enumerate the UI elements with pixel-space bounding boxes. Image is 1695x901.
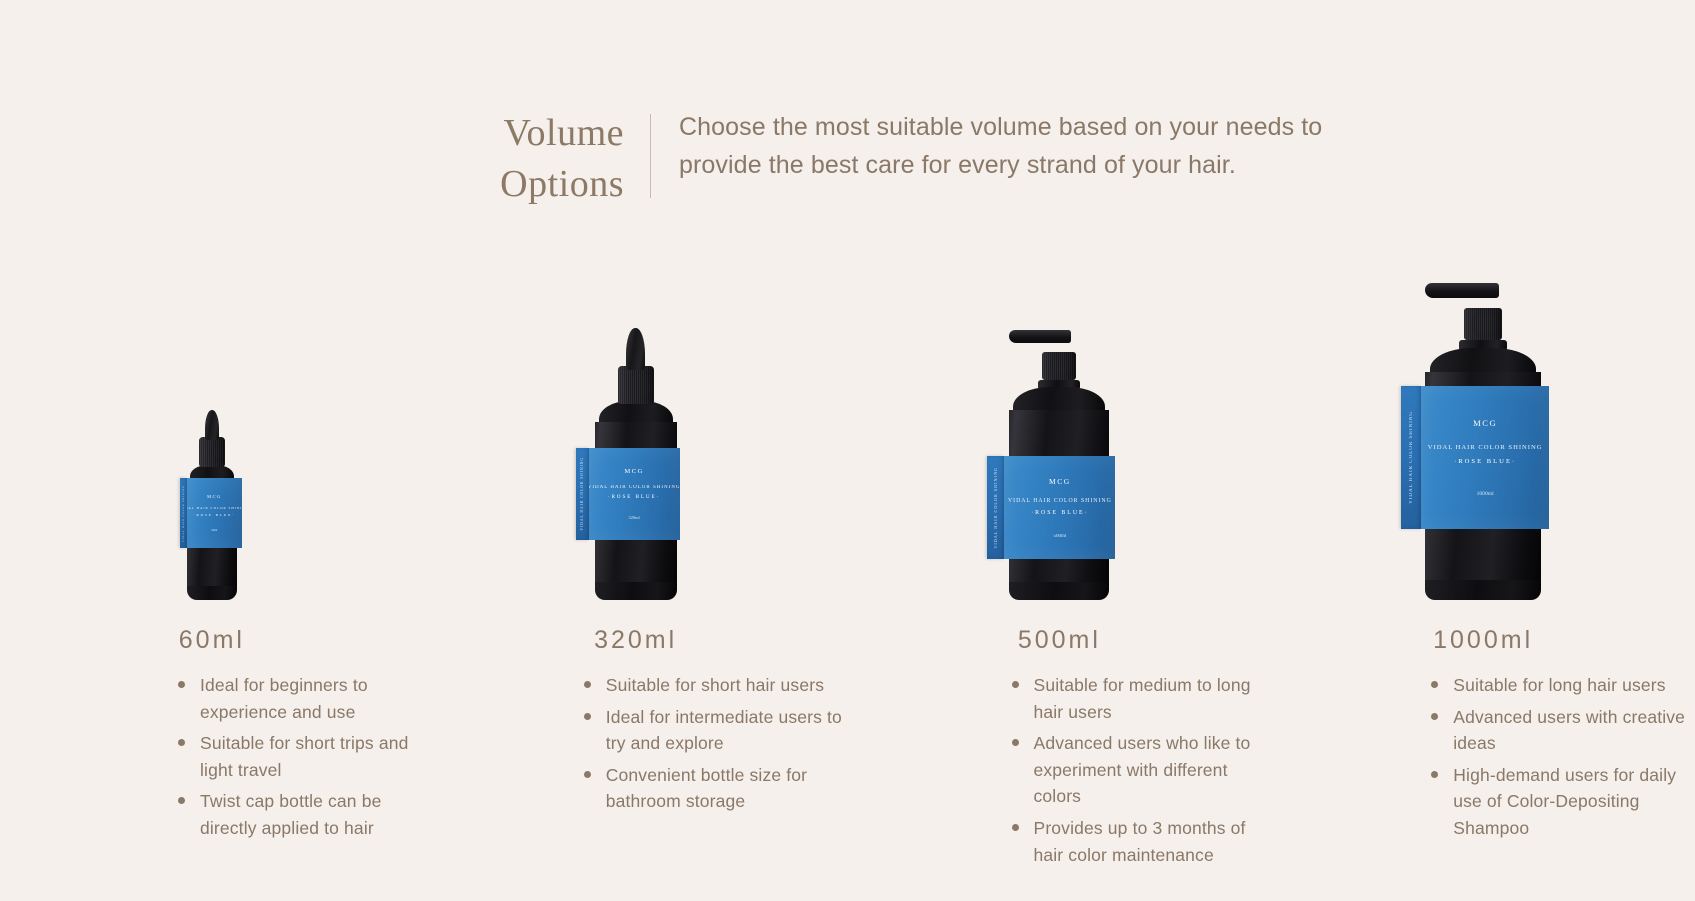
label-flap: VIDAL HAIR COLOR SHINING [987, 456, 1004, 559]
twist-cap-tip-icon [626, 328, 645, 370]
header-description: Choose the most suitable volume based on… [651, 108, 1339, 184]
pump-head-icon [1419, 283, 1547, 313]
product-column-60ml: VIDAL HAIR COLOR SHINING MCG VIDAL HAIR … [0, 240, 424, 873]
label-flap: VIDAL HAIR COLOR SHINING [576, 448, 589, 540]
label-variant: ·ROSE BLUE· [1454, 458, 1516, 465]
feature-text: Suitable for short hair users [606, 672, 824, 699]
bullet-dot-icon [1012, 681, 1019, 688]
bottle-base [1009, 582, 1109, 600]
bottle-image-1000ml: VIDAL HAIR COLOR SHINING MCG VIDAL HAIR … [1271, 240, 1695, 600]
label-volume: 320ml [629, 515, 640, 520]
label-brand: MCG [1049, 477, 1071, 486]
feature-text: Ideal for intermediate users to try and … [606, 704, 848, 757]
label-flap: VIDAL HAIR COLOR SHINING [1401, 386, 1421, 529]
label-flap: VIDAL HAIR COLOR SHINING [180, 478, 187, 548]
bullet-dot-icon [1431, 681, 1438, 688]
label-variant: ·ROSE BLUE· [608, 495, 660, 500]
twist-cap-tip-icon [205, 410, 219, 440]
label-flap-text: VIDAL HAIR COLOR SHINING [580, 457, 584, 530]
feature-text: Suitable for short trips and light trave… [200, 730, 424, 783]
bullet-dot-icon [178, 797, 185, 804]
feature-text: Twist cap bottle can be directly applied… [200, 788, 424, 841]
page-header: Volume Options Choose the most suitable … [448, 108, 1339, 211]
feature-text: Advanced users with creative ideas [1453, 704, 1695, 757]
feature-item: Suitable for short trips and light trave… [178, 730, 424, 783]
label-product-line: VIDAL HAIR COLOR SHINING [589, 485, 680, 490]
pump-neck [1042, 352, 1076, 380]
feature-item: Advanced users who like to experiment wi… [1012, 730, 1272, 810]
bullet-dot-icon [584, 771, 591, 778]
volume-title-1000ml: 1000ml [1433, 626, 1533, 655]
bullet-dot-icon [584, 713, 591, 720]
label-face: MCG VIDAL HAIR COLOR SHINING ·ROSE BLUE·… [1421, 386, 1549, 529]
label-flap-text: VIDAL HAIR COLOR SHINING [1409, 411, 1414, 504]
label-variant: ·ROSE BLUE· [1031, 510, 1088, 516]
feature-item: Suitable for long hair users [1431, 672, 1695, 699]
feature-item: Suitable for short hair users [584, 672, 848, 699]
product-label-60ml: VIDAL HAIR COLOR SHINING MCG VIDAL HAIR … [180, 478, 242, 548]
feature-item: Ideal for beginners to experience and us… [178, 672, 424, 725]
bullet-dot-icon [1012, 739, 1019, 746]
feature-list-60ml: Ideal for beginners to experience and us… [0, 672, 424, 847]
twist-cap-collar-icon [199, 437, 225, 467]
feature-text: Suitable for medium to long hair users [1034, 672, 1272, 725]
product-label-500ml: VIDAL HAIR COLOR SHINING MCG VIDAL HAIR … [987, 456, 1115, 559]
label-brand: MCG [624, 468, 644, 475]
label-face: MCG VIDAL HAIR COLOR SHINING ·ROSE BLUE·… [589, 448, 680, 540]
feature-text: Suitable for long hair users [1453, 672, 1665, 699]
volume-title-320ml: 320ml [594, 626, 677, 655]
label-face: MCG VIDAL HAIR COLOR SHINING ·ROSE BLUE·… [187, 478, 242, 548]
page-title: Volume Options [448, 108, 650, 211]
pump-spout [1009, 330, 1071, 343]
feature-item: Provides up to 3 months of hair color ma… [1012, 815, 1272, 868]
feature-text: Provides up to 3 months of hair color ma… [1034, 815, 1272, 868]
bottle-image-500ml: VIDAL HAIR COLOR SHINING MCG VIDAL HAIR … [848, 240, 1272, 600]
bottle-base [595, 582, 677, 600]
bullet-dot-icon [584, 681, 591, 688]
feature-item: Convenient bottle size for bathroom stor… [584, 762, 848, 815]
pump-spout [1425, 283, 1499, 298]
feature-text: Ideal for beginners to experience and us… [200, 672, 424, 725]
label-product-line: VIDAL HAIR COLOR SHINING [1008, 498, 1112, 504]
pump-head-icon [1003, 330, 1115, 356]
feature-item: Ideal for intermediate users to try and … [584, 704, 848, 757]
feature-text: Advanced users who like to experiment wi… [1034, 730, 1272, 810]
product-column-500ml: VIDAL HAIR COLOR SHINING MCG VIDAL HAIR … [848, 240, 1272, 873]
label-volume: 500ml [1053, 534, 1066, 539]
feature-text: High-demand users for daily use of Color… [1453, 762, 1695, 842]
bullet-dot-icon [1431, 771, 1438, 778]
product-comparison-grid: VIDAL HAIR COLOR SHINING MCG VIDAL HAIR … [0, 240, 1695, 873]
feature-item: Twist cap bottle can be directly applied… [178, 788, 424, 841]
label-flap-text: VIDAL HAIR COLOR SHINING [182, 485, 185, 542]
bottle-base [1425, 580, 1541, 600]
label-variant: ·ROSE BLUE· [193, 513, 235, 517]
label-volume: 1000ml [1477, 491, 1494, 497]
twist-cap-collar-icon [618, 366, 654, 404]
feature-text: Convenient bottle size for bathroom stor… [606, 762, 848, 815]
page-title-line-2: Options [448, 159, 624, 210]
product-label-1000ml: VIDAL HAIR COLOR SHINING MCG VIDAL HAIR … [1401, 386, 1549, 529]
label-product-line: VIDAL HAIR COLOR SHINING [187, 506, 242, 510]
bottle-base [187, 586, 237, 600]
bottle-image-60ml: VIDAL HAIR COLOR SHINING MCG VIDAL HAIR … [0, 240, 424, 600]
product-label-320ml: VIDAL HAIR COLOR SHINING MCG VIDAL HAIR … [576, 448, 680, 540]
volume-title-60ml: 60ml [179, 626, 245, 655]
label-volume: 60ml [211, 528, 217, 532]
label-flap-text: VIDAL HAIR COLOR SHINING [993, 467, 998, 549]
volume-title-500ml: 500ml [1018, 626, 1101, 655]
feature-list-1000ml: Suitable for long hair users Advanced us… [1271, 672, 1695, 847]
page-title-line-1: Volume [448, 108, 624, 159]
feature-list-500ml: Suitable for medium to long hair users A… [848, 672, 1272, 873]
feature-item: Advanced users with creative ideas [1431, 704, 1695, 757]
bullet-dot-icon [178, 681, 185, 688]
feature-list-320ml: Suitable for short hair users Ideal for … [424, 672, 848, 820]
product-column-320ml: VIDAL HAIR COLOR SHINING MCG VIDAL HAIR … [424, 240, 848, 873]
bullet-dot-icon [1431, 713, 1438, 720]
bullet-dot-icon [178, 739, 185, 746]
label-product-line: VIDAL HAIR COLOR SHINING [1428, 444, 1543, 451]
feature-item: Suitable for medium to long hair users [1012, 672, 1272, 725]
product-column-1000ml: VIDAL HAIR COLOR SHINING MCG VIDAL HAIR … [1271, 240, 1695, 873]
bullet-dot-icon [1012, 824, 1019, 831]
label-brand: MCG [1473, 418, 1497, 428]
bottle-image-320ml: VIDAL HAIR COLOR SHINING MCG VIDAL HAIR … [424, 240, 848, 600]
feature-item: High-demand users for daily use of Color… [1431, 762, 1695, 842]
label-face: MCG VIDAL HAIR COLOR SHINING ·ROSE BLUE·… [1004, 456, 1115, 559]
label-brand: MCG [207, 494, 222, 499]
